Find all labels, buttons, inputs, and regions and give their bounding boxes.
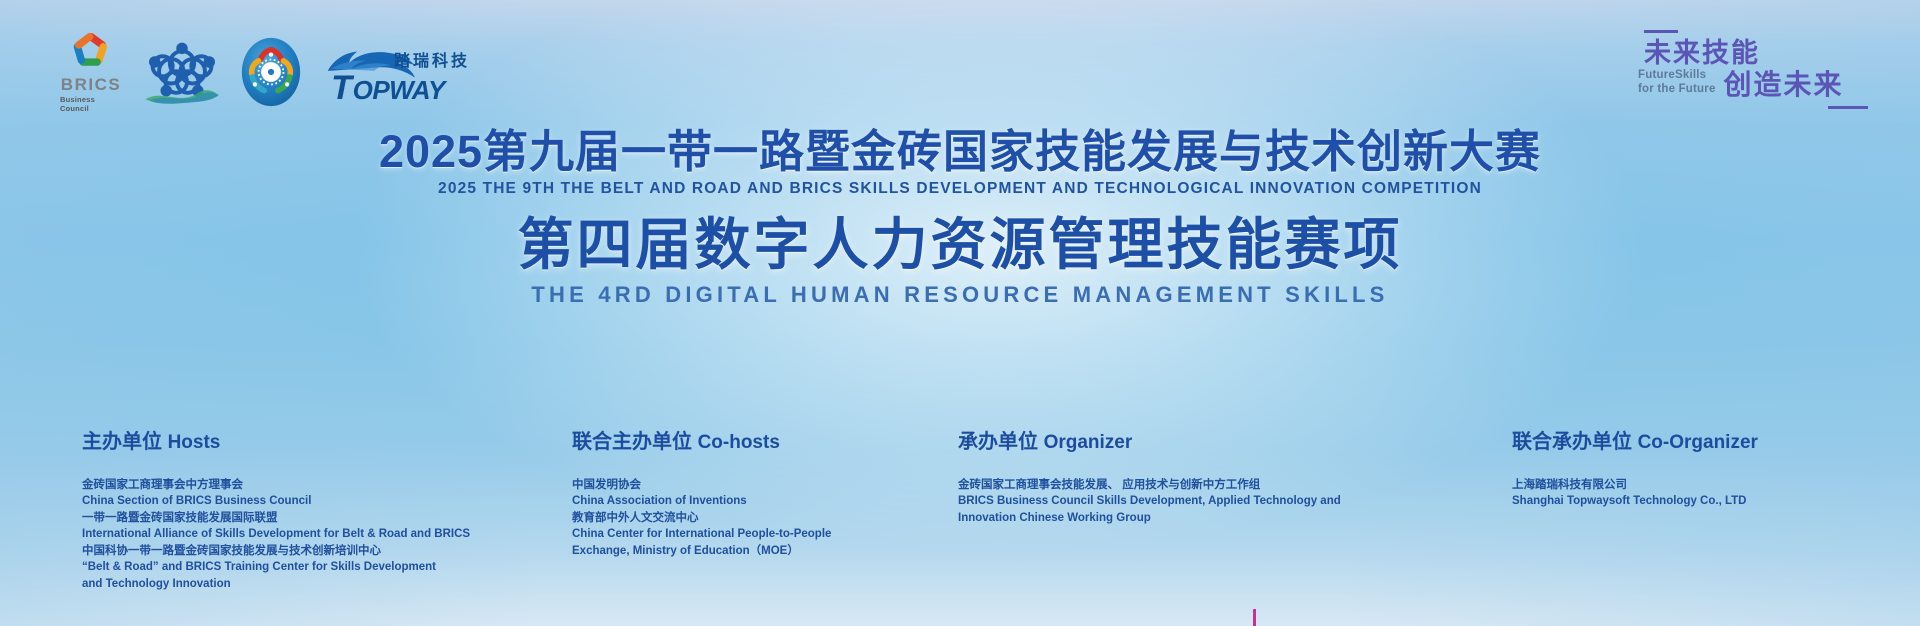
organizer-line: and Technology Innovation <box>82 576 502 593</box>
organizer-line: “Belt & Road” and BRICS Training Center … <box>82 559 502 576</box>
future-skills-bottom-rule <box>1828 106 1868 109</box>
belt-road-brics-skills-alliance-logo <box>142 39 222 105</box>
future-skills-en: FutureSkills for the Future <box>1638 69 1716 98</box>
organizer-column-hosts: 主办单位 Hosts 金砖国家工商理事会中方理事会 China Section … <box>82 430 502 592</box>
organizer-line: 一带一路暨金砖国家技能发展国际联盟 <box>82 510 502 527</box>
blue-network-flower-icon <box>142 39 222 105</box>
organizer-lines: 中国发明协会 China Association of Inventions 教… <box>572 477 902 560</box>
organizer-heading-en: Organizer <box>1044 432 1133 453</box>
competition-banner: BRICS Business Council <box>0 0 1920 626</box>
topway-chinese-name: 踏瑞科技 <box>394 47 470 71</box>
organizer-heading: 联合主办单位 Co-hosts <box>572 430 902 455</box>
sub-title-en: THE 4RD DIGITAL HUMAN RESOURCE MANAGEMEN… <box>0 282 1920 308</box>
future-skills-block: 未来技能 FutureSkills for the Future 创造未来 <box>1638 30 1868 109</box>
organizer-heading-cn: 联合主办单位 <box>572 431 692 453</box>
organizer-heading: 主办单位 Hosts <box>82 430 502 455</box>
sub-title-cn: 第四届数字人力资源管理技能赛项 <box>0 214 1920 277</box>
organizer-heading-en: Co-Organizer <box>1638 432 1758 453</box>
svg-text:T: T <box>331 69 355 106</box>
brics-five-color-star-icon <box>69 31 113 73</box>
brics-wordmark: BRICS <box>61 76 121 93</box>
organizer-line: 中国科协一带一路暨金砖国家技能发展与技术创新培训中心 <box>82 543 502 560</box>
organizer-line: China Section of BRICS Business Council <box>82 493 502 510</box>
topway-logo: T OPWAY 踏瑞科技 <box>324 38 470 106</box>
organizer-line: 金砖国家工商理事会技能发展、 应用技术与创新中方工作组 <box>958 477 1378 494</box>
future-skills-cn-line2: 创造未来 <box>1724 71 1844 99</box>
svg-text:OPWAY: OPWAY <box>353 75 448 105</box>
future-skills-top-rule <box>1644 30 1678 33</box>
organizer-column-organizer: 承办单位 Organizer 金砖国家工商理事会技能发展、 应用技术与创新中方工… <box>958 430 1378 526</box>
organizer-heading: 承办单位 Organizer <box>958 430 1378 455</box>
organizer-heading: 联合承办单位 Co-Organizer <box>1512 430 1892 455</box>
organizer-line: BRICS Business Council Skills Developmen… <box>958 493 1378 510</box>
organizer-line: Exchange, Ministry of Education（MOE） <box>572 543 902 560</box>
organizer-line: 上海踏瑞科技有限公司 <box>1512 477 1892 494</box>
logo-row: BRICS Business Council <box>60 32 470 112</box>
future-skills-en-line1: FutureSkills <box>1638 69 1716 82</box>
organizer-lines: 金砖国家工商理事会中方理事会 China Section of BRICS Bu… <box>82 477 502 593</box>
organizer-heading-en: Hosts <box>168 432 221 453</box>
brics-tagline: Business Council <box>60 95 122 113</box>
organizer-lines: 金砖国家工商理事会技能发展、 应用技术与创新中方工作组 BRICS Busine… <box>958 477 1378 527</box>
organizer-line: 中国发明协会 <box>572 477 902 494</box>
organizer-lines: 上海踏瑞科技有限公司 Shanghai Topwaysoft Technolog… <box>1512 477 1892 510</box>
organizer-column-co-organizer: 联合承办单位 Co-Organizer 上海踏瑞科技有限公司 Shanghai … <box>1512 430 1892 510</box>
organizer-line: China Center for International People-to… <box>572 526 902 543</box>
organizer-heading-en: Co-hosts <box>698 432 780 453</box>
circular-star-gear-emblem-icon <box>240 36 302 108</box>
bottom-magenta-tick <box>1253 609 1256 626</box>
title-block: 2025第九届一带一路暨金砖国家技能发展与技术创新大赛 2025 THE 9TH… <box>0 128 1920 308</box>
skills-training-center-emblem-logo <box>240 36 302 108</box>
organizer-line: 教育部中外人文交流中心 <box>572 510 902 527</box>
organizer-line: 金砖国家工商理事会中方理事会 <box>82 477 502 494</box>
organizer-heading-cn: 承办单位 <box>958 431 1038 453</box>
organizer-line: Innovation Chinese Working Group <box>958 510 1378 527</box>
organizer-line: International Alliance of Skills Develop… <box>82 526 502 543</box>
future-skills-cn-line1: 未来技能 <box>1644 39 1868 67</box>
organizer-column-cohosts: 联合主办单位 Co-hosts 中国发明协会 China Association… <box>572 430 902 559</box>
organizer-line: China Association of Inventions <box>572 493 902 510</box>
main-title-cn: 2025第九届一带一路暨金砖国家技能发展与技术创新大赛 <box>0 128 1920 176</box>
organizer-heading-cn: 联合承办单位 <box>1512 431 1632 453</box>
organizer-line: Shanghai Topwaysoft Technology Co., LTD <box>1512 493 1892 510</box>
brics-business-council-logo: BRICS Business Council <box>60 31 122 113</box>
organizer-heading-cn: 主办单位 <box>82 431 162 453</box>
organizers-section: 主办单位 Hosts 金砖国家工商理事会中方理事会 China Section … <box>0 430 1920 620</box>
main-title-en: 2025 THE 9TH THE BELT AND ROAD AND BRICS… <box>0 180 1920 198</box>
future-skills-en-line2: for the Future <box>1638 83 1716 96</box>
